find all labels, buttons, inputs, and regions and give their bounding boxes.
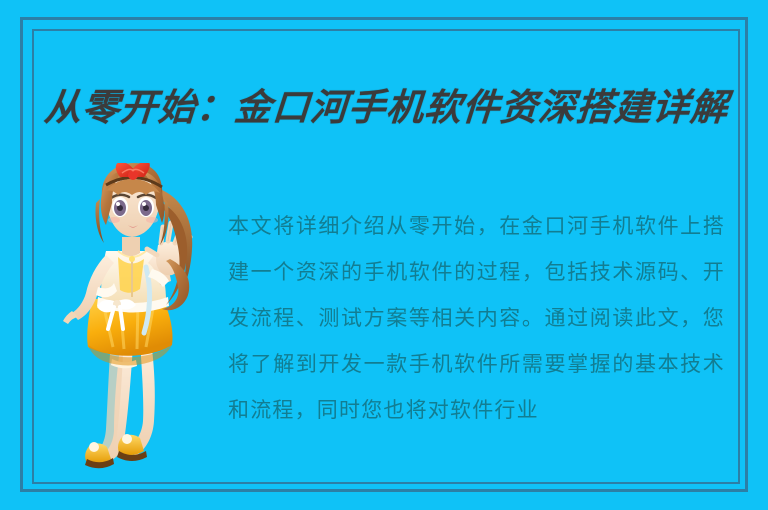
anime-girl-character-illustration bbox=[58, 163, 220, 485]
article-body: 本文将详细介绍从零开始，在金口河手机软件上搭建一个资深的手机软件的过程，包括技术… bbox=[228, 203, 725, 433]
neck bbox=[122, 237, 140, 256]
poster-canvas: 从零开始：金口河手机软件资深搭建详解 bbox=[0, 0, 768, 510]
page-title: 从零开始：金口河手机软件资深搭建详解 bbox=[42, 82, 736, 133]
necklace-pendant bbox=[129, 256, 135, 262]
